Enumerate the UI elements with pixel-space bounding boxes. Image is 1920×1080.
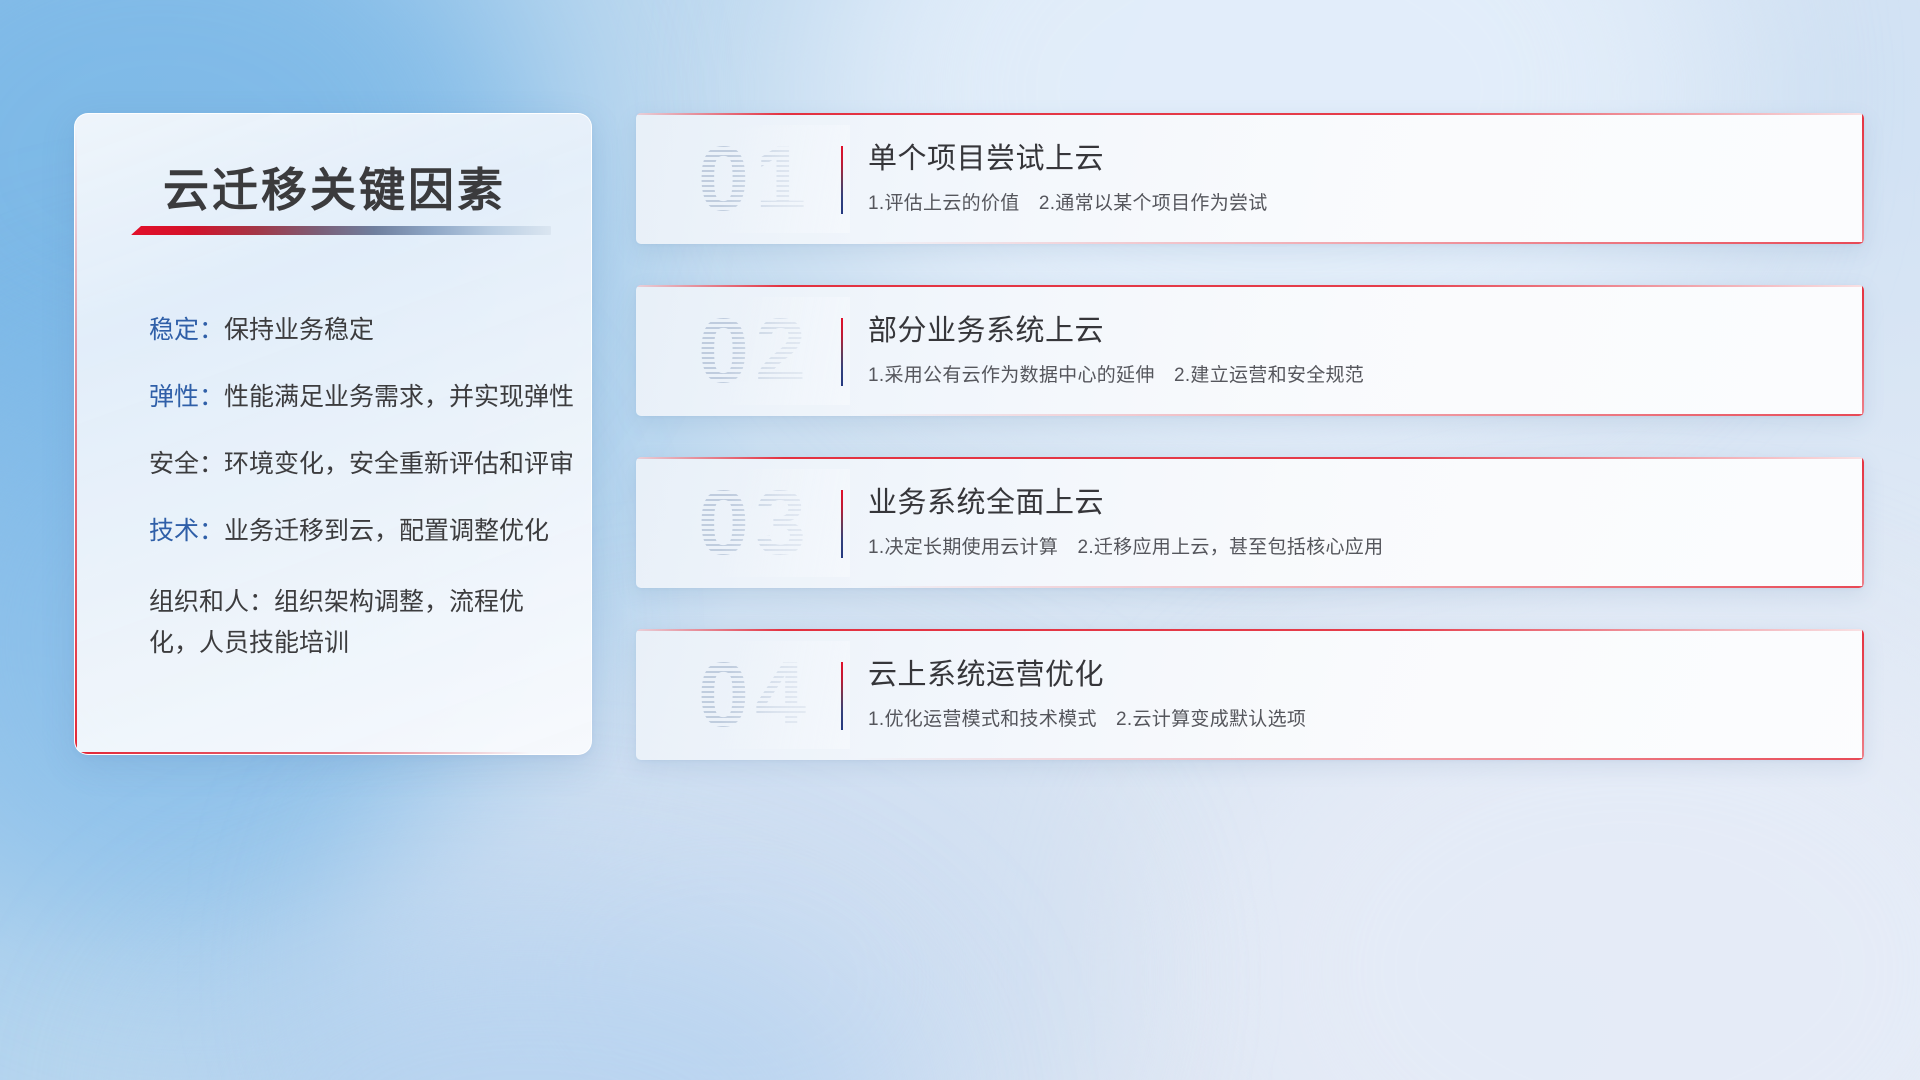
stage-divider-bar [841,146,843,214]
card-right-accent [1862,113,1864,244]
stage-number: 04 [660,641,850,749]
cloud-migration-stages: 01 单个项目尝试上云 1.评估上云的价值 2.通常以某个项目作为尝试 02 部… [636,113,1864,801]
page-title: 云迁移关键因素 [163,154,506,220]
stage-card-03[interactable]: 03 业务系统全面上云 1.决定长期使用云计算 2.迁移应用上云，甚至包括核心应… [636,457,1864,588]
list-item-key: 稳定： [149,316,224,344]
card-bottom-accent [857,242,1864,244]
stage-divider-bar [841,318,843,386]
stage-body: 单个项目尝试上云 1.评估上云的价值 2.通常以某个项目作为尝试 [868,135,1840,215]
list-item-key: 技术： [149,517,224,545]
stage-body: 部分业务系统上云 1.采用公有云作为数据中心的延伸 2.建立运营和安全规范 [868,307,1840,387]
list-item-key: 组织和人： [149,588,274,616]
card-top-accent [636,113,1864,115]
stage-divider-bar [841,662,843,730]
slide-canvas: 云迁移关键因素 稳定：保持业务稳定 弹性：性能满足业务需求，并实现弹性 安全：环… [0,0,1920,1080]
stage-number: 02 [660,297,850,405]
stage-title: 部分业务系统上云 [868,307,1840,349]
stage-subtitle: 1.优化运营模式和技术模式 2.云计算变成默认选项 [868,704,1840,731]
card-right-accent [1862,285,1864,416]
background-blob-lower-left [150,900,910,1080]
stage-subtitle: 1.评估上云的价值 2.通常以某个项目作为尝试 [868,188,1840,215]
stage-number: 01 [660,125,850,233]
card-right-accent [1862,457,1864,588]
list-item: 安全：环境变化，安全重新评估和评审 [149,448,557,480]
stage-body: 业务系统全面上云 1.决定长期使用云计算 2.迁移应用上云，甚至包括核心应用 [868,479,1840,559]
stage-title: 单个项目尝试上云 [868,135,1840,177]
stage-card-04[interactable]: 04 云上系统运营优化 1.优化运营模式和技术模式 2.云计算变成默认选项 [636,629,1864,760]
title-underline-gradient [131,226,551,235]
list-item: 组织和人：组织架构调整，流程优化，人员技能培训 [149,582,557,663]
list-item: 稳定：保持业务稳定 [149,314,557,346]
stage-subtitle: 1.采用公有云作为数据中心的延伸 2.建立运营和安全规范 [868,360,1840,387]
card-top-accent [636,285,1864,287]
card-bottom-accent [857,586,1864,588]
list-item-key: 安全： [149,450,224,478]
card-top-accent [636,457,1864,459]
list-item-value: 保持业务稳定 [224,316,374,344]
stage-title: 云上系统运营优化 [868,651,1840,693]
list-item-key: 弹性： [149,383,224,411]
key-factors-card: 云迁移关键因素 稳定：保持业务稳定 弹性：性能满足业务需求，并实现弹性 安全：环… [74,113,592,755]
card-bottom-accent [857,758,1864,760]
list-item: 技术：业务迁移到云，配置调整优化 [149,515,557,547]
list-item-value: 业务迁移到云，配置调整优化 [224,517,549,545]
card-bottom-accent [857,414,1864,416]
list-item-value: 环境变化，安全重新评估和评审 [224,450,574,478]
list-item: 弹性：性能满足业务需求，并实现弹性 [149,381,557,413]
card-top-accent [636,629,1864,631]
key-factors-list: 稳定：保持业务稳定 弹性：性能满足业务需求，并实现弹性 安全：环境变化，安全重新… [149,314,557,698]
stage-subtitle: 1.决定长期使用云计算 2.迁移应用上云，甚至包括核心应用 [868,532,1840,559]
stage-card-02[interactable]: 02 部分业务系统上云 1.采用公有云作为数据中心的延伸 2.建立运营和安全规范 [636,285,1864,416]
stage-divider-bar [841,490,843,558]
stage-card-01[interactable]: 01 单个项目尝试上云 1.评估上云的价值 2.通常以某个项目作为尝试 [636,113,1864,244]
list-item-value: 性能满足业务需求，并实现弹性 [224,383,574,411]
card-right-accent [1862,629,1864,760]
stage-number: 03 [660,469,850,577]
stage-title: 业务系统全面上云 [868,479,1840,521]
stage-body: 云上系统运营优化 1.优化运营模式和技术模式 2.云计算变成默认选项 [868,651,1840,731]
